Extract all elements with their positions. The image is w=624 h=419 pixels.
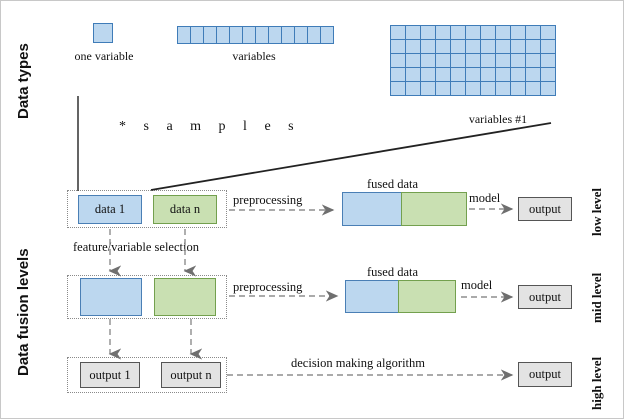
mid-level-green-box [154, 278, 216, 316]
matrix-cell [510, 53, 526, 68]
preprocessing-label-low: preprocessing [233, 193, 302, 208]
matrix-cell [495, 39, 511, 54]
data-n-box: data n [153, 195, 217, 224]
fused-data-label-low: fused data [367, 177, 418, 192]
vector-cell [294, 26, 308, 44]
matrix-cell [495, 53, 511, 68]
level-label-low: low level [589, 188, 605, 236]
matrix-cell [405, 53, 421, 68]
matrix-cell [405, 25, 421, 40]
samples-note: * s a m p l e s [119, 119, 301, 135]
matrix-cell [435, 67, 451, 82]
fused-data-green-mid [398, 280, 456, 313]
matrix-cell [510, 25, 526, 40]
matrix-cell [390, 67, 406, 82]
output-box-mid: output [518, 285, 572, 309]
preprocessing-label-mid: preprocessing [233, 280, 302, 295]
vector-cell [190, 26, 204, 44]
matrix-cell [540, 53, 556, 68]
matrix-cell [420, 25, 436, 40]
matrix-cell [480, 25, 496, 40]
one-variable-cell [93, 23, 113, 43]
matrix-cell [465, 53, 481, 68]
matrix-cell [465, 39, 481, 54]
matrix-cell [465, 67, 481, 82]
matrix-cell [405, 39, 421, 54]
vector-cell [177, 26, 191, 44]
matrix-cell [480, 53, 496, 68]
matrix-cell [450, 81, 466, 96]
matrix-cell [420, 67, 436, 82]
level-label-mid: mid level [589, 273, 605, 323]
matrix-cell [450, 53, 466, 68]
level-label-high: high level [589, 357, 605, 410]
matrix-cell [510, 81, 526, 96]
matrix-row [390, 81, 555, 95]
vector-cell [229, 26, 243, 44]
feature-selection-label: feature/variable selection [73, 240, 199, 255]
output-1-box: output 1 [80, 362, 140, 388]
matrix-cell [465, 81, 481, 96]
matrix-cell [525, 39, 541, 54]
matrix-cell [495, 67, 511, 82]
matrix-cell [480, 39, 496, 54]
matrix-cell [510, 39, 526, 54]
matrix-cell [540, 25, 556, 40]
vector-cell [281, 26, 295, 44]
matrix-cell [390, 39, 406, 54]
matrix-cell [420, 39, 436, 54]
fused-data-green-low [401, 192, 467, 226]
vector-cell [242, 26, 256, 44]
output-box-high: output [518, 362, 572, 387]
fused-data-blue-low [342, 192, 402, 226]
matrix-cell [540, 67, 556, 82]
section-label-data-fusion-levels: Data fusion levels [15, 248, 32, 376]
data-1-box: data 1 [78, 195, 142, 224]
variables-matrix [390, 25, 555, 95]
matrix-cell [435, 53, 451, 68]
matrix-cell [540, 39, 556, 54]
matrix-row [390, 53, 555, 67]
matrix-row [390, 67, 555, 81]
vector-cell [307, 26, 321, 44]
output-n-box: output n [161, 362, 221, 388]
matrix-x-caption: variables #1 [453, 112, 543, 127]
matrix-cell [450, 25, 466, 40]
matrix-cell [465, 25, 481, 40]
fused-data-blue-mid [345, 280, 399, 313]
matrix-cell [390, 81, 406, 96]
matrix-cell [435, 39, 451, 54]
matrix-cell [420, 53, 436, 68]
matrix-cell [525, 53, 541, 68]
vector-cell [216, 26, 230, 44]
matrix-cell [435, 81, 451, 96]
model-label-mid: model [461, 278, 492, 293]
vector-cell [268, 26, 282, 44]
vector-cell [320, 26, 334, 44]
mid-level-blue-box [80, 278, 142, 316]
matrix-cell [390, 25, 406, 40]
matrix-cell [435, 25, 451, 40]
matrix-row [390, 25, 555, 39]
matrix-cell [525, 67, 541, 82]
section-label-data-types: Data types [15, 43, 32, 119]
matrix-cell [540, 81, 556, 96]
matrix-cell [495, 81, 511, 96]
matrix-cell [405, 67, 421, 82]
model-label-low: model [469, 191, 500, 206]
fused-data-label-mid: fused data [367, 265, 418, 280]
decision-making-label: decision making algorithm [291, 356, 425, 371]
output-box-low: output [518, 197, 572, 221]
matrix-cell [495, 25, 511, 40]
variables-vector [177, 26, 333, 44]
matrix-cell [450, 39, 466, 54]
matrix-cell [390, 53, 406, 68]
matrix-cell [450, 67, 466, 82]
matrix-row [390, 39, 555, 53]
matrix-cell [480, 81, 496, 96]
figure-canvas: Data types Data fusion levels one variab… [0, 0, 624, 419]
matrix-cell [420, 81, 436, 96]
one-variable-caption: one variable [69, 49, 139, 64]
matrix-cell [405, 81, 421, 96]
variables-caption: variables [214, 49, 294, 64]
matrix-cell [480, 67, 496, 82]
matrix-y-caption: variables #2 [1, 0, 13, 1]
vector-cell [203, 26, 217, 44]
vector-cell [255, 26, 269, 44]
matrix-cell [525, 81, 541, 96]
matrix-cell [510, 67, 526, 82]
matrix-cell [525, 25, 541, 40]
